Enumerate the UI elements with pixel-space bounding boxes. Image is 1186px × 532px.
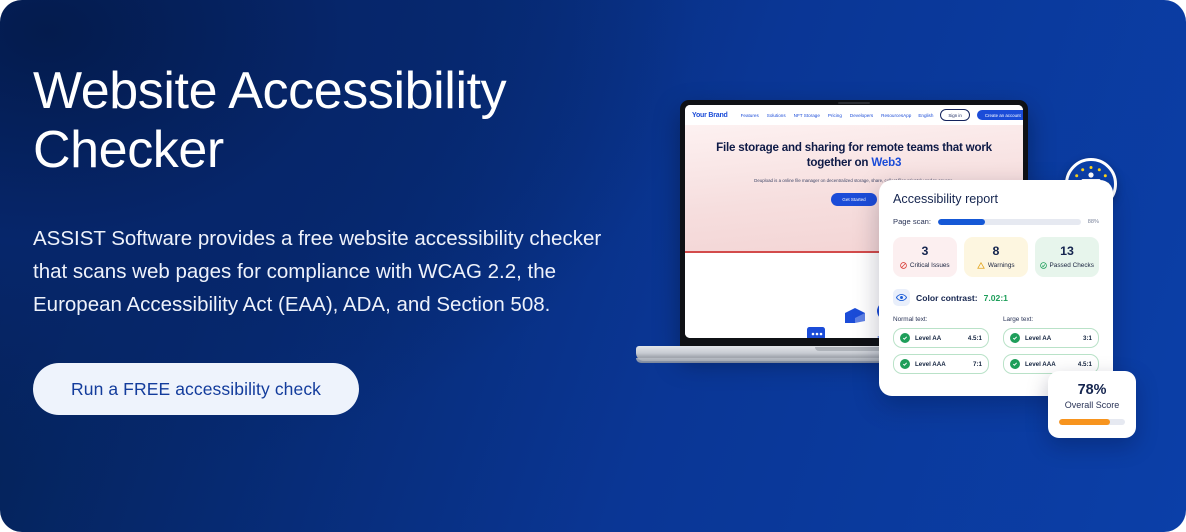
eye-icon xyxy=(896,293,907,302)
mock-site-navbar: Your Brand Features Solutions NFT Storag… xyxy=(685,105,1023,125)
level-pill-large-aa[interactable]: Level AA 3:1 xyxy=(1003,328,1099,348)
stat-label: Passed Checks xyxy=(1050,262,1094,269)
level-ratio: 4.5:1 xyxy=(1078,361,1092,368)
hero-description: ASSIST Software provides a free website … xyxy=(33,222,603,322)
page-title: Website Accessibility Checker xyxy=(33,62,633,180)
page-scan-progressbar xyxy=(938,219,1081,225)
check-icon xyxy=(1010,359,1020,369)
mock-nav-link[interactable]: NFT Storage xyxy=(794,113,820,118)
overall-score-progress-fill xyxy=(1059,419,1110,425)
overall-score-progressbar xyxy=(1059,419,1125,425)
stat-card-passed-checks[interactable]: 13 Passed Checks xyxy=(1035,237,1099,277)
report-stat-cards: 3 Critical Issues 8 Warnings xyxy=(893,237,1099,277)
overall-score-card: 78% Overall Score xyxy=(1048,371,1136,438)
block-icon xyxy=(900,262,907,269)
level-pill-normal-aa[interactable]: Level AA 4.5:1 xyxy=(893,328,989,348)
mock-site-nav-links: Features Solutions NFT Storage Pricing D… xyxy=(741,113,904,118)
warning-icon xyxy=(977,262,985,269)
stat-value: 8 xyxy=(966,245,1026,257)
mock-sign-in-button[interactable]: Sign in xyxy=(940,109,969,121)
page-scan-label: Page scan: xyxy=(893,217,931,226)
check-icon xyxy=(900,359,910,369)
color-contrast-value: 7.02:1 xyxy=(984,293,1008,303)
normal-text-header: Normal text: xyxy=(893,316,989,323)
mock-nav-link[interactable]: Developers xyxy=(850,113,873,118)
page-scan-percent: 88% xyxy=(1088,219,1099,225)
normal-text-column: Normal text: Level AA 4.5:1 Level AAA 7:… xyxy=(893,316,989,380)
mock-nav-language-selector[interactable]: English xyxy=(918,113,933,118)
overall-score-value: 78% xyxy=(1059,383,1125,397)
overall-score-label: Overall Score xyxy=(1059,400,1125,410)
stat-label-row: Critical Issues xyxy=(895,262,955,269)
check-circle-icon xyxy=(1040,262,1047,269)
stat-label-row: Warnings xyxy=(966,262,1026,269)
level-name: Level AA xyxy=(1025,335,1051,342)
stat-card-warnings[interactable]: 8 Warnings xyxy=(964,237,1028,277)
mock-nav-link[interactable]: Features xyxy=(741,113,759,118)
stat-label: Critical Issues xyxy=(910,262,950,269)
mock-nav-link[interactable]: Pricing xyxy=(828,113,842,118)
color-contrast-label: Color contrast: xyxy=(916,293,978,303)
level-pill-normal-aaa[interactable]: Level AAA 7:1 xyxy=(893,354,989,374)
large-text-header: Large text: xyxy=(1003,316,1099,323)
page-scan-row: Page scan: 88% xyxy=(893,217,1099,226)
stat-label-row: Passed Checks xyxy=(1037,262,1097,269)
mock-nav-link[interactable]: Solutions xyxy=(767,113,786,118)
mock-get-started-button[interactable]: Get Started xyxy=(831,193,877,206)
color-contrast-row: Color contrast: 7.02:1 xyxy=(893,289,1099,306)
stat-value: 13 xyxy=(1037,245,1097,257)
mock-hero-heading-accent: Web3 xyxy=(871,156,901,169)
hero-copy-block: Website Accessibility Checker ASSIST Sof… xyxy=(33,62,633,415)
mock-site-nav-actions: App English Sign in Create an account xyxy=(903,109,1023,121)
page-scan-progress-fill xyxy=(938,219,985,225)
stat-value: 3 xyxy=(895,245,955,257)
mock-nav-app-link[interactable]: App xyxy=(903,113,911,118)
level-name: Level AAA xyxy=(1025,361,1056,368)
laptop-camera-notch xyxy=(838,102,870,105)
run-free-accessibility-check-button[interactable]: Run a FREE accessibility check xyxy=(33,363,359,415)
check-icon xyxy=(1010,333,1020,343)
level-name: Level AA xyxy=(915,335,941,342)
mock-create-account-button[interactable]: Create an account xyxy=(977,110,1023,121)
accessibility-checker-hero-banner: Website Accessibility Checker ASSIST Sof… xyxy=(0,0,1186,532)
stat-card-critical-issues[interactable]: 3 Critical Issues xyxy=(893,237,957,277)
mock-hero-heading-line1: File storage and sharing for remote xyxy=(716,141,904,154)
level-name: Level AAA xyxy=(915,361,946,368)
level-ratio: 7:1 xyxy=(973,361,982,368)
level-ratio: 4.5:1 xyxy=(968,335,982,342)
accessibility-report-card: Accessibility report Page scan: 88% 3 Cr… xyxy=(879,180,1113,396)
mock-hero-heading: File storage and sharing for remote team… xyxy=(685,141,1023,171)
mock-site-logo[interactable]: Your Brand xyxy=(692,112,728,119)
check-icon xyxy=(900,333,910,343)
mock-nav-link[interactable]: Resources xyxy=(881,113,903,118)
stat-label: Warnings xyxy=(988,262,1015,269)
report-title: Accessibility report xyxy=(893,192,1099,206)
level-ratio: 3:1 xyxy=(1083,335,1092,342)
eye-icon-chip xyxy=(893,289,910,306)
